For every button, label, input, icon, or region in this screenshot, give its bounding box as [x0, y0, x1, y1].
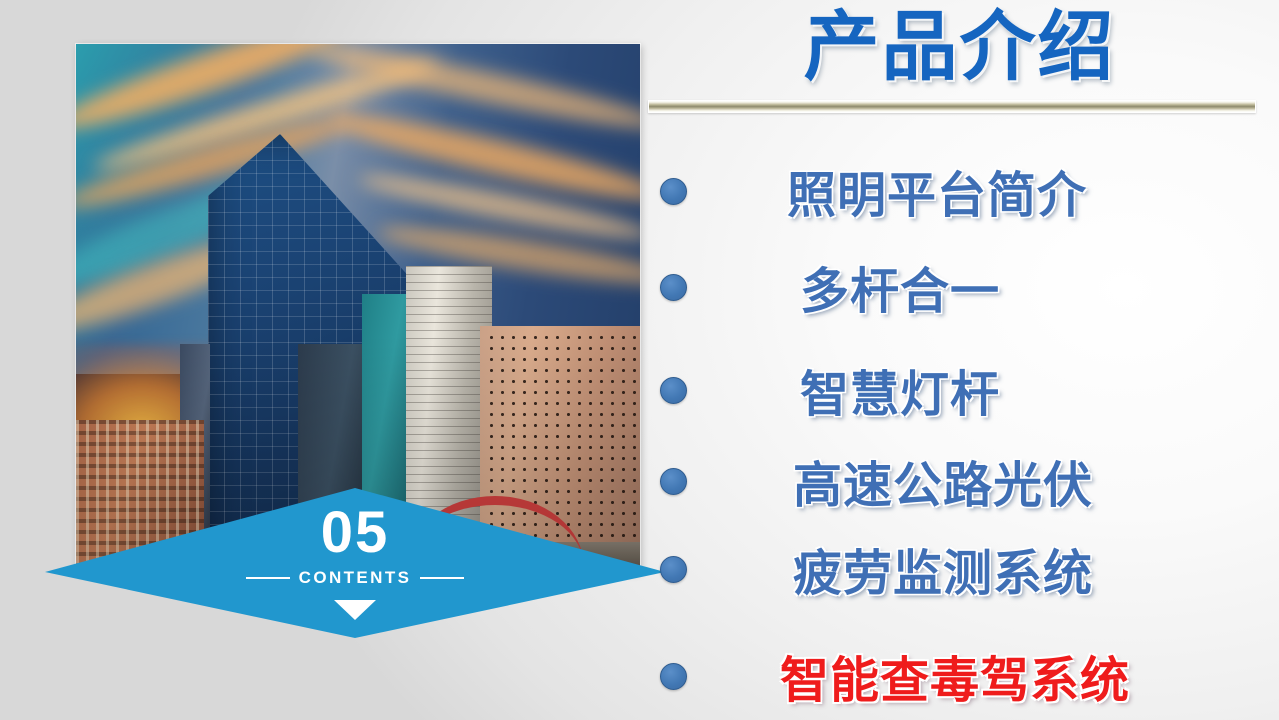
list-item[interactable]: 智能查毒驾系统 — [660, 641, 1130, 712]
list-item[interactable]: 疲劳监测系统 — [660, 534, 1093, 605]
list-item[interactable]: 照明平台简介 — [660, 156, 1087, 227]
list-item-label: 智慧灯杆 — [800, 355, 1000, 426]
contents-number: 05 — [45, 503, 665, 563]
slide-canvas: 05 CONTENTS 产品介绍 照明平台简介 多杆合一 智慧灯杆 高速公路光伏… — [0, 0, 1279, 720]
bullet-icon — [660, 468, 687, 495]
list-item-label: 疲劳监测系统 — [793, 534, 1093, 605]
bullet-icon — [660, 663, 687, 690]
list-item[interactable]: 智慧灯杆 — [660, 355, 1000, 426]
list-item-label: 智能查毒驾系统 — [780, 641, 1130, 712]
contents-label-row: CONTENTS — [45, 568, 665, 588]
contents-label: CONTENTS — [299, 568, 412, 588]
caret-down-icon — [45, 600, 665, 625]
list-item-label: 照明平台简介 — [787, 156, 1087, 227]
list-item-label: 多杆合一 — [800, 252, 1000, 323]
title-divider — [648, 100, 1256, 113]
rule-left — [246, 577, 290, 579]
bullet-icon — [660, 178, 687, 205]
list-item[interactable]: 多杆合一 — [660, 252, 1000, 323]
page-title: 产品介绍 — [640, 2, 1279, 94]
list-item[interactable]: 高速公路光伏 — [660, 446, 1093, 517]
agenda-list: 照明平台简介 多杆合一 智慧灯杆 高速公路光伏 疲劳监测系统 智能查毒驾系统 — [660, 132, 1279, 702]
bullet-icon — [660, 556, 687, 583]
rule-right — [420, 577, 464, 579]
list-item-label: 高速公路光伏 — [793, 446, 1093, 517]
bullet-icon — [660, 377, 687, 404]
bullet-icon — [660, 274, 687, 301]
